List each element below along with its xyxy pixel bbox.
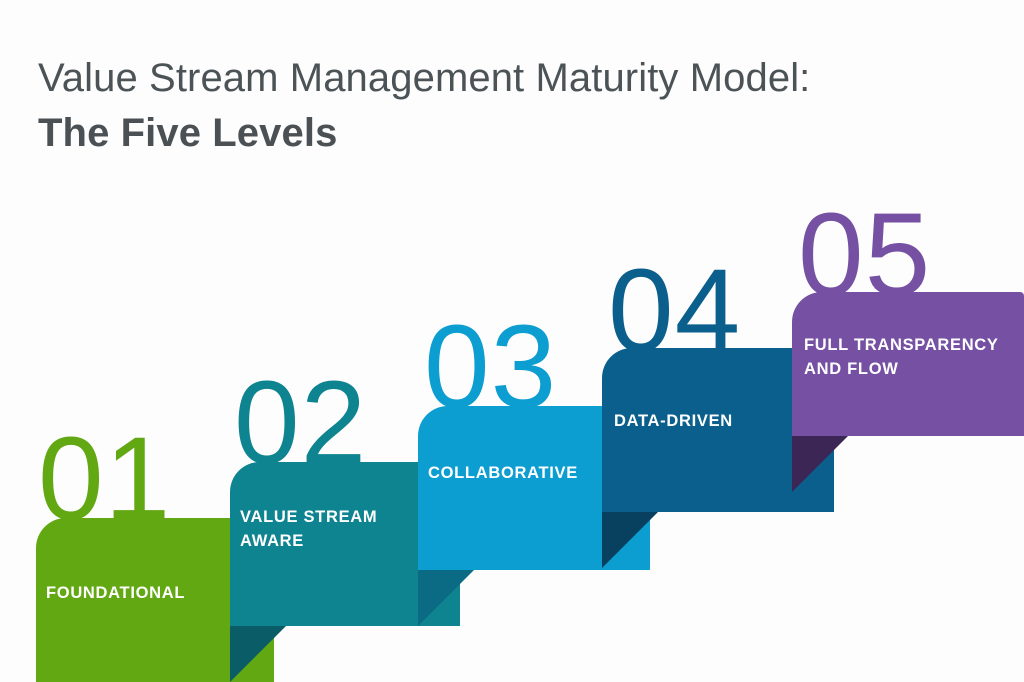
step-shadow-03 bbox=[418, 570, 474, 626]
step-shadow-02 bbox=[230, 626, 286, 682]
step-shadow-04 bbox=[602, 512, 658, 568]
step-shadow-05 bbox=[792, 436, 848, 492]
step-label-05: FULL TRANSPARENCY AND FLOW bbox=[804, 334, 1022, 382]
maturity-staircase-diagram: 01 FOUNDATIONAL 02 VALUE STREAM AWARE 03… bbox=[0, 0, 1024, 682]
step-label-01: FOUNDATIONAL bbox=[46, 582, 261, 606]
